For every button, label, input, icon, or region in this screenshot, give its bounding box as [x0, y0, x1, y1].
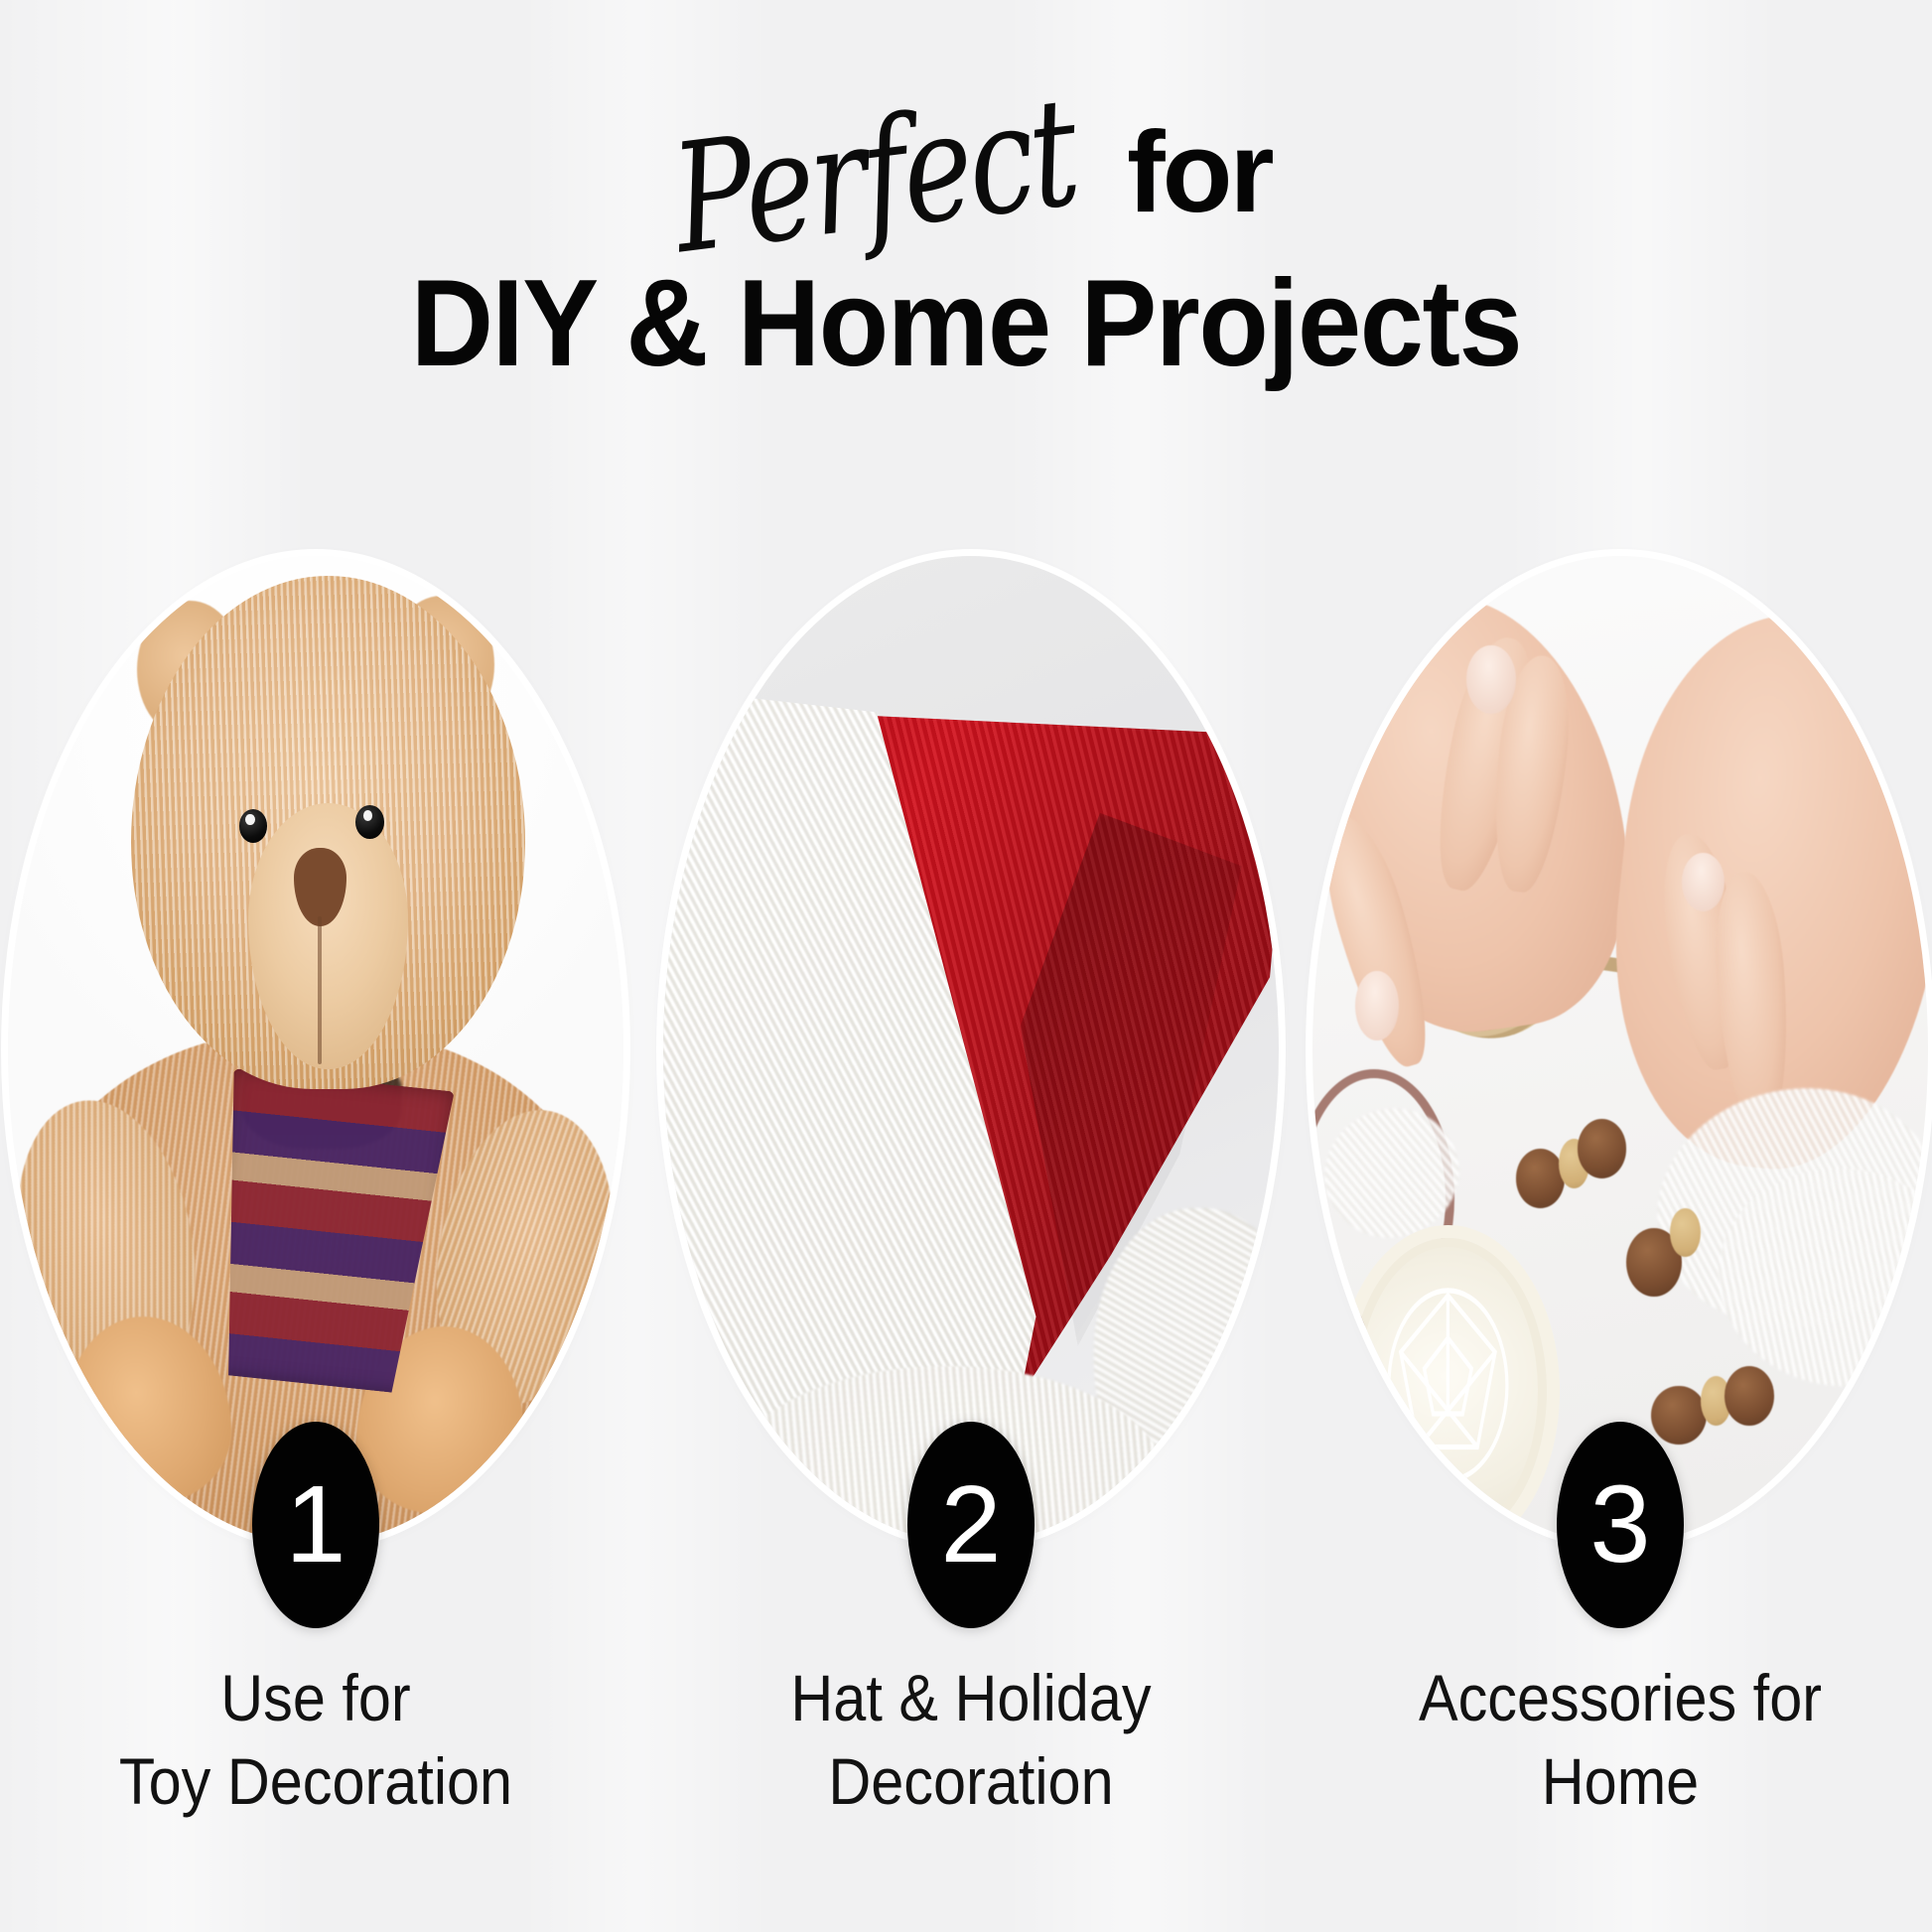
caption-3: Accessories for Home	[1343, 1656, 1897, 1823]
oval-photo-frame-2	[663, 556, 1279, 1544]
caption-1-line-2: Toy Decoration	[39, 1739, 593, 1823]
caption-1-line-1: Use for	[220, 1661, 410, 1734]
oval-photo-frame-3	[1312, 556, 1928, 1544]
oval-photo-frame-1	[8, 556, 623, 1544]
step-badge-1: 1	[252, 1422, 379, 1628]
feature-card-1: 1 Use for Toy Decoration	[8, 556, 623, 1827]
caption-3-line-1: Accessories for	[1419, 1661, 1822, 1734]
caption-2-line-2: Decoration	[694, 1739, 1248, 1823]
caption-1: Use for Toy Decoration	[39, 1656, 593, 1823]
caption-3-line-2: Home	[1343, 1739, 1897, 1823]
step-badge-3: 3	[1557, 1422, 1684, 1628]
santa-hat-photo	[663, 556, 1279, 1544]
feature-cards: 1 Use for Toy Decoration 2 Hat & Ho	[0, 0, 1932, 1932]
dreamcatcher-web-icon	[1374, 1267, 1522, 1504]
feature-card-2: 2 Hat & Holiday Decoration	[663, 556, 1279, 1827]
product-infographic-canvas: Perfectfor DIY & Home Projects	[0, 0, 1932, 1932]
feature-card-3: 3 Accessories for Home	[1312, 556, 1928, 1827]
hands-crafting-photo	[1312, 556, 1928, 1544]
step-badge-2: 2	[907, 1422, 1035, 1628]
teddy-bear-photo	[8, 556, 623, 1544]
caption-2: Hat & Holiday Decoration	[694, 1656, 1248, 1823]
caption-2-line-1: Hat & Holiday	[790, 1661, 1151, 1734]
